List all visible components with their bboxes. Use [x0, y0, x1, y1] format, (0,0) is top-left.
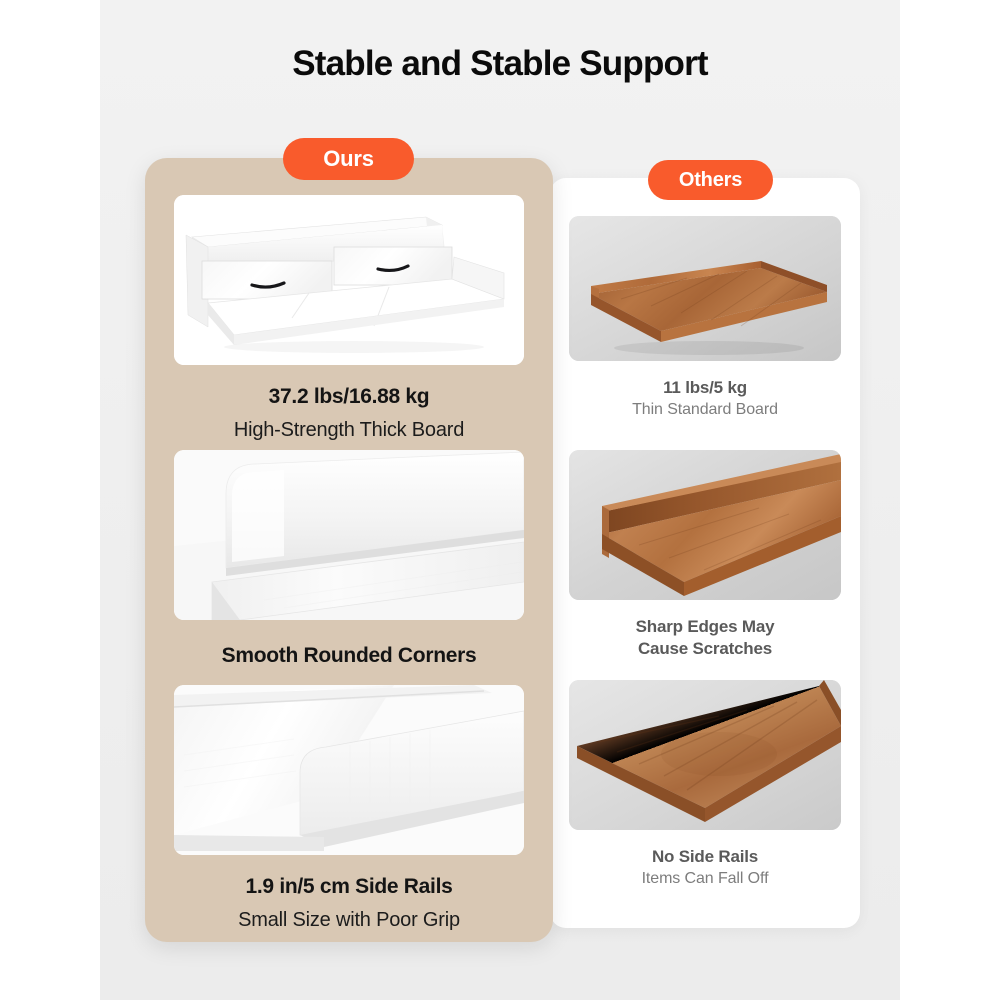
badge-others[interactable]: Others — [648, 160, 773, 200]
ours-image-rounded-corner-closeup — [174, 450, 524, 620]
ours-image-side-rail-closeup — [174, 685, 524, 855]
ours-block-2: Smooth Rounded Corners — [145, 450, 553, 670]
others-headline-2: Sharp Edges May — [550, 616, 860, 638]
others-image-wood-no-rails — [569, 680, 841, 830]
others-subline-2: Cause Scratches — [550, 638, 860, 660]
ours-subline-3: Small Size with Poor Grip — [145, 907, 553, 933]
others-block-1: 11 lbs/5 kg Thin Standard Board — [550, 216, 860, 421]
ours-block-1: 37.2 lbs/16.88 kg High-Strength Thick Bo… — [145, 195, 553, 443]
others-subline-3: Items Can Fall Off — [550, 868, 860, 889]
others-image-wood-sharp-edge — [569, 450, 841, 600]
infographic-canvas: Stable and Stable Support — [100, 0, 900, 1000]
badge-ours[interactable]: Ours — [283, 138, 414, 180]
others-block-3: No Side Rails Items Can Fall Off — [550, 680, 860, 890]
ours-headline-2: Smooth Rounded Corners — [145, 642, 553, 670]
others-image-wood-tray-shelf — [569, 216, 841, 361]
ours-headline-1: 37.2 lbs/16.88 kg — [145, 383, 553, 411]
ours-headline-3: 1.9 in/5 cm Side Rails — [145, 873, 553, 901]
others-column-panel: 11 lbs/5 kg Thin Standard Board — [550, 178, 860, 928]
others-block-2: Sharp Edges May Cause Scratches — [550, 450, 860, 661]
page-title: Stable and Stable Support — [100, 44, 900, 84]
others-headline-1: 11 lbs/5 kg — [550, 377, 860, 399]
ours-image-white-shelf-drawers — [174, 195, 524, 365]
ours-subline-1: High-Strength Thick Board — [145, 417, 553, 443]
others-headline-3: No Side Rails — [550, 846, 860, 868]
ours-column-panel: 37.2 lbs/16.88 kg High-Strength Thick Bo… — [145, 158, 553, 942]
others-subline-1: Thin Standard Board — [550, 399, 860, 420]
ours-block-3: 1.9 in/5 cm Side Rails Small Size with P… — [145, 685, 553, 933]
